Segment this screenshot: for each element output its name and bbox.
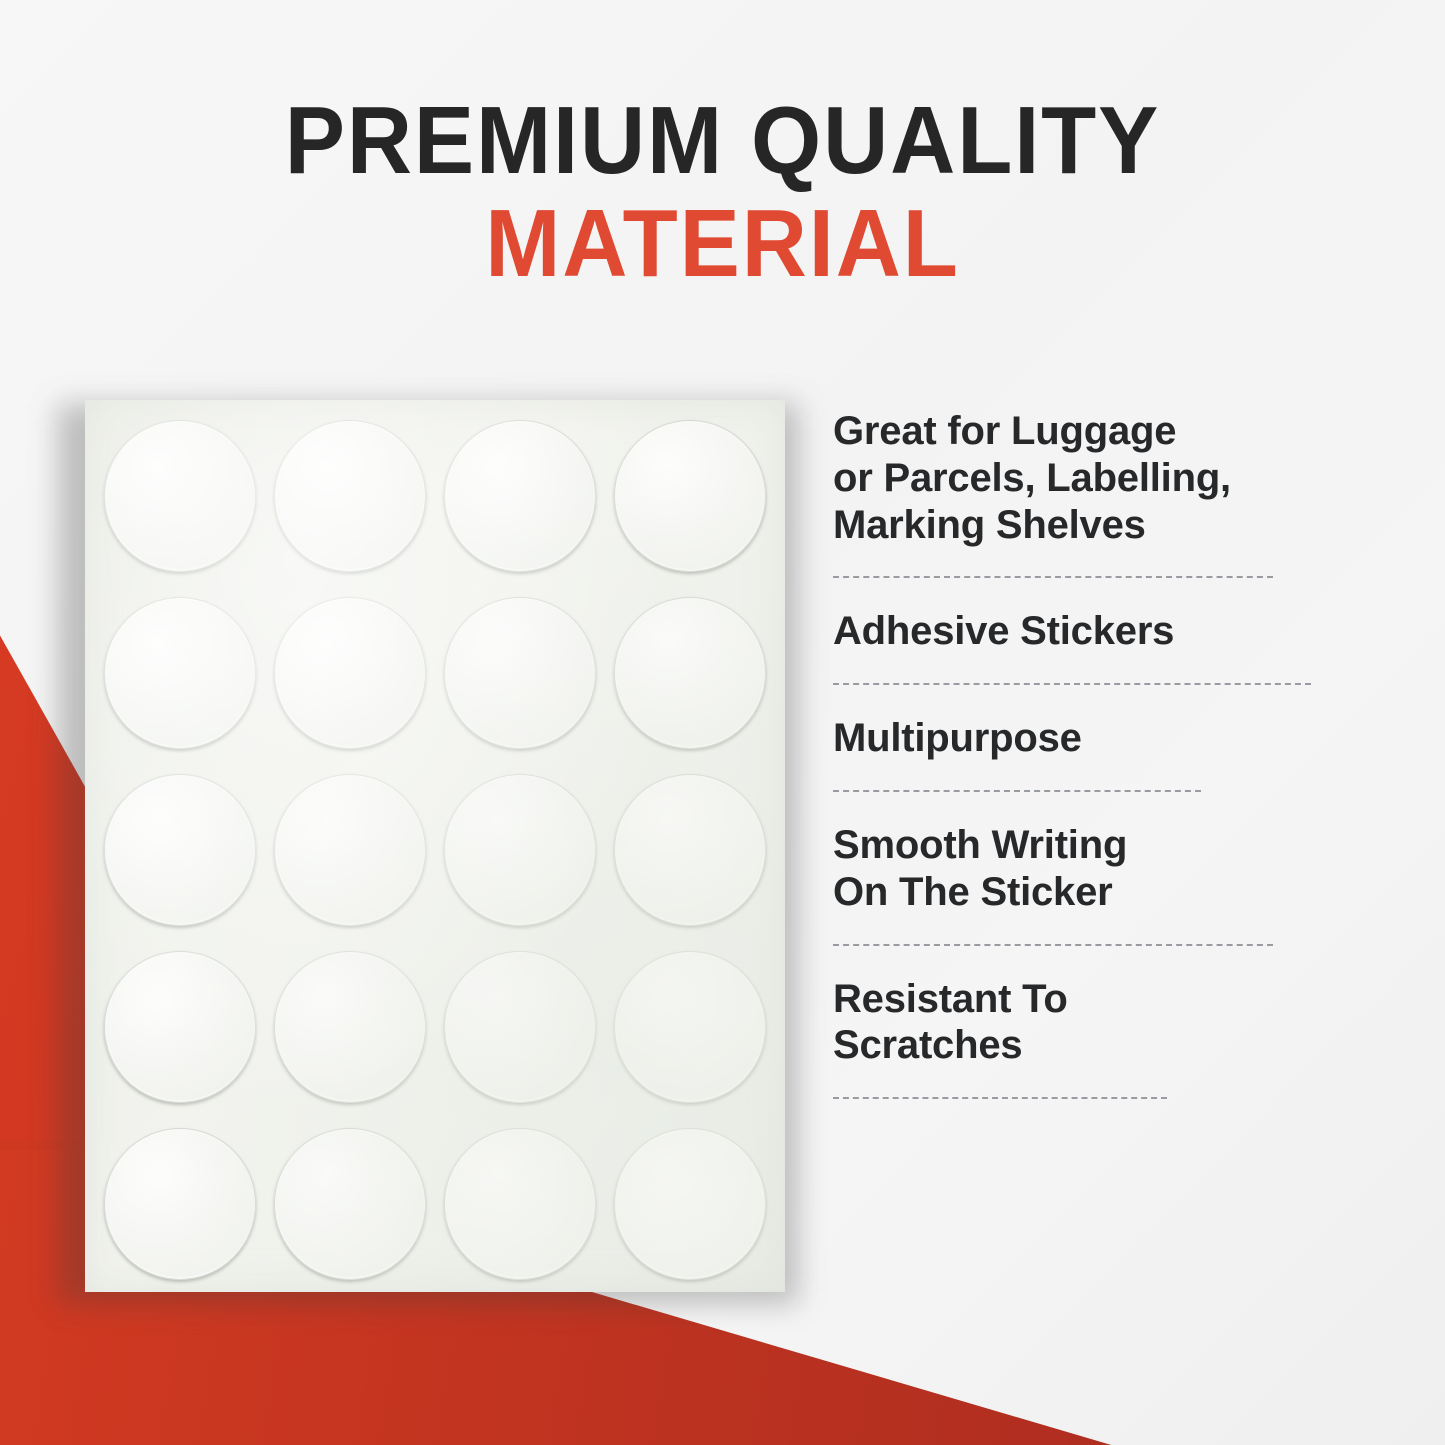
- circle-sticker: [274, 774, 426, 926]
- circle-sticker: [614, 1128, 766, 1280]
- circle-sticker: [614, 597, 766, 749]
- feature-label: Great for Luggage or Parcels, Labelling,…: [833, 408, 1293, 548]
- sticker-cell: [95, 585, 265, 762]
- circle-sticker: [104, 951, 256, 1103]
- sticker-cell: [605, 585, 775, 762]
- spacer: [833, 578, 1293, 608]
- circle-sticker: [274, 420, 426, 572]
- sticker-cell: [265, 585, 435, 762]
- sticker-cell: [435, 1115, 605, 1292]
- feature-item-2: Adhesive Stickers: [833, 608, 1293, 655]
- sticker-cell: [435, 762, 605, 939]
- feature-divider: [833, 1097, 1167, 1099]
- sticker-cell: [605, 1115, 775, 1292]
- spacer: [833, 685, 1293, 715]
- sticker-cell: [435, 938, 605, 1115]
- sticker-cell: [265, 938, 435, 1115]
- title-line-accent: MATERIAL: [43, 194, 1401, 295]
- circle-sticker: [104, 420, 256, 572]
- feature-item-1: Great for Luggage or Parcels, Labelling,…: [833, 408, 1293, 548]
- circle-sticker: [104, 774, 256, 926]
- circle-sticker: [104, 597, 256, 749]
- circle-sticker: [614, 951, 766, 1103]
- circle-sticker: [104, 1128, 256, 1280]
- feature-label: Resistant To Scratches: [833, 976, 1293, 1070]
- sticker-cell: [605, 762, 775, 939]
- spacer: [833, 916, 1293, 944]
- feature-divider: [833, 683, 1311, 685]
- title-line-primary: PREMIUM QUALITY: [43, 92, 1401, 190]
- infographic-canvas: PREMIUM QUALITY MATERIAL: [0, 0, 1445, 1445]
- circle-sticker: [274, 1128, 426, 1280]
- circle-sticker: [274, 951, 426, 1103]
- sticker-cell: [605, 938, 775, 1115]
- feature-item-4: Smooth Writing On The Sticker: [833, 822, 1293, 916]
- feature-label: Smooth Writing On The Sticker: [833, 822, 1293, 916]
- feature-label: Multipurpose: [833, 715, 1293, 762]
- page-title: PREMIUM QUALITY MATERIAL: [0, 92, 1445, 295]
- sticker-cell: [435, 408, 605, 585]
- circle-sticker: [614, 774, 766, 926]
- sticker-cell: [95, 762, 265, 939]
- circle-sticker: [274, 597, 426, 749]
- spacer: [833, 1069, 1293, 1097]
- sticker-cell: [265, 1115, 435, 1292]
- sticker-cell: [435, 585, 605, 762]
- spacer: [833, 792, 1293, 822]
- feature-divider: [833, 576, 1273, 578]
- circle-sticker: [444, 420, 596, 572]
- spacer: [833, 946, 1293, 976]
- sticker-cell: [95, 408, 265, 585]
- feature-list: Great for Luggage or Parcels, Labelling,…: [833, 408, 1293, 1099]
- circle-sticker: [614, 420, 766, 572]
- circle-sticker: [444, 774, 596, 926]
- circle-sticker: [444, 597, 596, 749]
- feature-item-5: Resistant To Scratches: [833, 976, 1293, 1070]
- spacer: [833, 548, 1293, 576]
- sticker-cell: [95, 938, 265, 1115]
- spacer: [833, 762, 1293, 790]
- circle-sticker: [444, 1128, 596, 1280]
- feature-item-3: Multipurpose: [833, 715, 1293, 762]
- feature-divider: [833, 944, 1273, 946]
- feature-label: Adhesive Stickers: [833, 608, 1293, 655]
- product-image-sticker-sheet: [85, 400, 785, 1292]
- sticker-cell: [265, 408, 435, 585]
- feature-divider: [833, 790, 1201, 792]
- circle-sticker: [444, 951, 596, 1103]
- sticker-cell: [95, 1115, 265, 1292]
- spacer: [833, 655, 1293, 683]
- sticker-grid: [85, 400, 785, 1292]
- sticker-cell: [265, 762, 435, 939]
- sticker-cell: [605, 408, 775, 585]
